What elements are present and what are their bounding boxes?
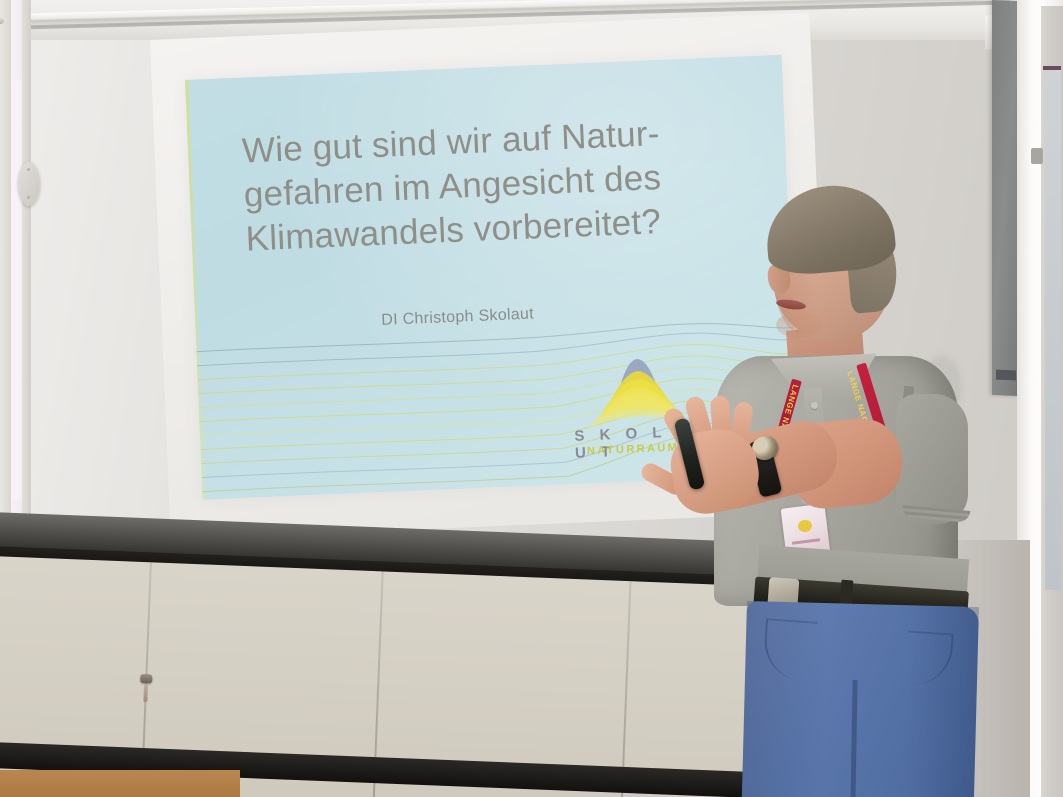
wall-bracket — [18, 162, 40, 206]
door-hinge — [1031, 148, 1043, 164]
presenter: LANGE NACHT DER FORSCHUNG LANGE NACHT DE… — [680, 180, 1000, 797]
bracket-screw-bottom — [27, 196, 30, 199]
presentation-photo: Wie gut sind wir auf Natur- gefahren im … — [0, 0, 1063, 797]
window-mullion — [0, 0, 11, 560]
bracket-screw-top — [27, 168, 30, 171]
cabinet-key[interactable] — [143, 684, 148, 702]
window-edge — [22, 0, 31, 560]
door-glass — [1045, 70, 1061, 590]
slide-title: Wie gut sind wir auf Natur- gefahren im … — [241, 109, 746, 262]
cabinet-lock[interactable] — [140, 674, 152, 683]
cabinet-door-seam — [620, 581, 632, 797]
door-top-bar — [1043, 66, 1061, 70]
polo-button — [811, 402, 818, 409]
chin — [776, 312, 822, 338]
hair — [762, 181, 897, 278]
floor — [0, 770, 240, 797]
